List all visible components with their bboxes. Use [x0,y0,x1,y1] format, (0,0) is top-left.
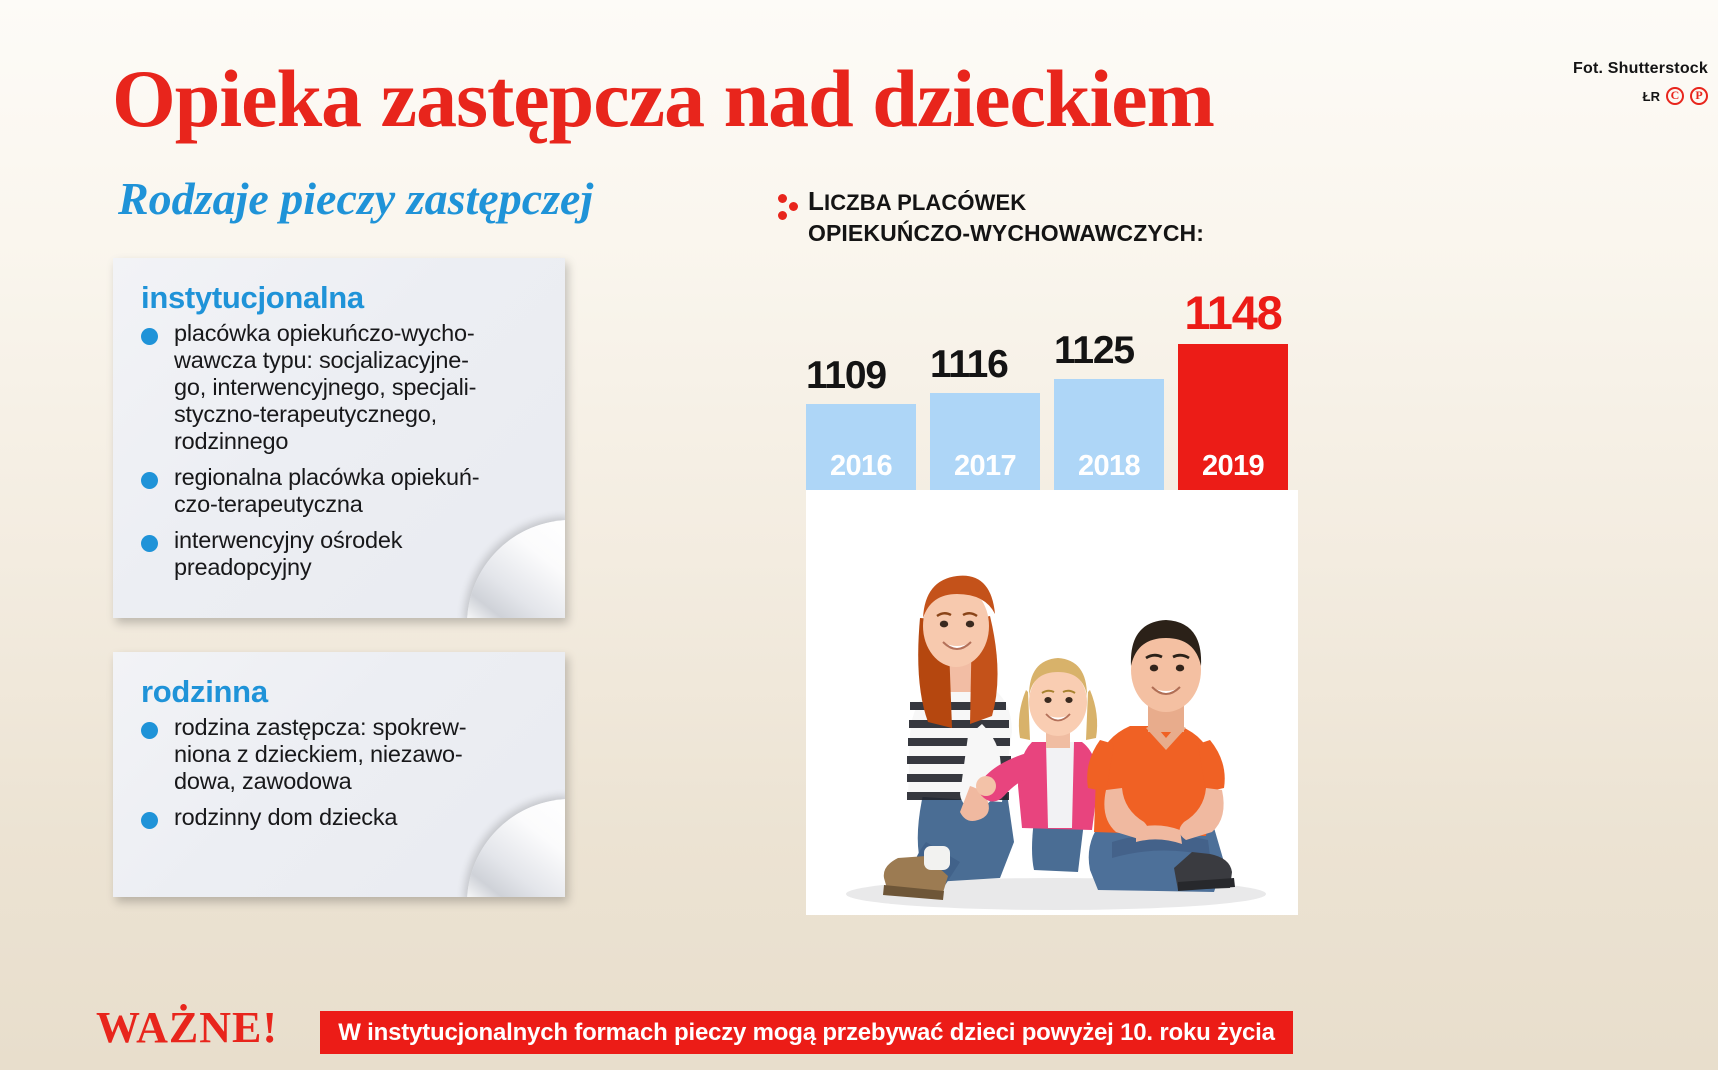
chart-heading-text: LICZBA PLACÓWEK OPIEKUŃCZO-WYCHOWAWCZYCH… [808,186,1204,249]
copyright-icon: C [1666,87,1684,105]
chart-heading-line2: OPIEKUŃCZO-WYCHOWAWCZYCH: [808,218,1204,249]
list-item: rodzina zastępcza: spokrew- niona z dzie… [141,714,565,795]
bar-rect-2018: 2018 [1054,379,1164,497]
bar-value-2017: 1116 [930,343,1040,387]
bar-value-2019: 1148 [1178,285,1288,340]
bar-2018: 1125 2018 [1054,275,1164,497]
bar-2016: 1109 2016 [806,275,916,497]
bar-rect-2019: 2019 [1178,344,1288,497]
list-item: interwencyjny ośrodek preadopcyjny [141,527,565,581]
credit-source: Fot. Shutterstock [1573,60,1708,78]
card-title-instytucjonalna: instytucjonalna [141,280,565,316]
bar-chart: 1109 2016 1116 2017 1125 2018 1148 2019 [806,275,1298,497]
family-photo-illustration [806,490,1298,915]
bullet-list-instytucjonalna: placówka opiekuńczo-wycho- wawcza typu: … [141,320,565,581]
phonogram-icon: P [1690,87,1708,105]
card-rodzinna: rodzinna rodzina zastępcza: spokrew- nio… [113,652,565,897]
bar-value-2018: 1125 [1054,329,1164,373]
family-photo [806,490,1298,915]
bar-year-2017: 2017 [930,450,1040,483]
photo-credit: Fot. Shutterstock ŁR C P [1573,60,1708,105]
credit-initials: ŁR [1643,89,1660,104]
list-item: placówka opiekuńczo-wycho- wawcza typu: … [141,320,565,455]
bar-value-2016: 1109 [806,354,916,398]
footer-banner-text: W instytucjonalnych formach pieczy mogą … [338,1019,1274,1047]
bar-year-2016: 2016 [806,450,916,483]
important-label: WAŻNE! [96,1006,278,1050]
bar-rect-2017: 2017 [930,393,1040,497]
three-dots-icon [778,192,794,226]
page-subtitle: Rodzaje pieczy zastępczej [118,172,593,225]
footer-banner: W instytucjonalnych formach pieczy mogą … [320,1011,1293,1054]
chart-heading-line1: ICZBA PLACÓWEK [824,190,1026,215]
list-item: rodzinny dom dziecka [141,804,565,831]
bar-2019: 1148 2019 [1178,275,1288,497]
chart-heading: LICZBA PLACÓWEK OPIEKUŃCZO-WYCHOWAWCZYCH… [778,186,1204,249]
bar-year-2019: 2019 [1178,450,1288,483]
bar-2017: 1116 2017 [930,275,1040,497]
card-instytucjonalna: instytucjonalna placówka opiekuńczo-wych… [113,258,565,618]
bar-rect-2016: 2016 [806,404,916,497]
bar-year-2018: 2018 [1054,450,1164,483]
bullet-list-rodzinna: rodzina zastępcza: spokrew- niona z dzie… [141,714,565,831]
credit-marks: ŁR C P [1573,87,1708,105]
page-title: Opieka zastępcza nad dzieckiem [112,58,1214,140]
card-title-rodzinna: rodzinna [141,674,565,710]
chart-heading-cap: L [808,186,824,216]
list-item: regionalna placówka opiekuń- czo-terapeu… [141,464,565,518]
